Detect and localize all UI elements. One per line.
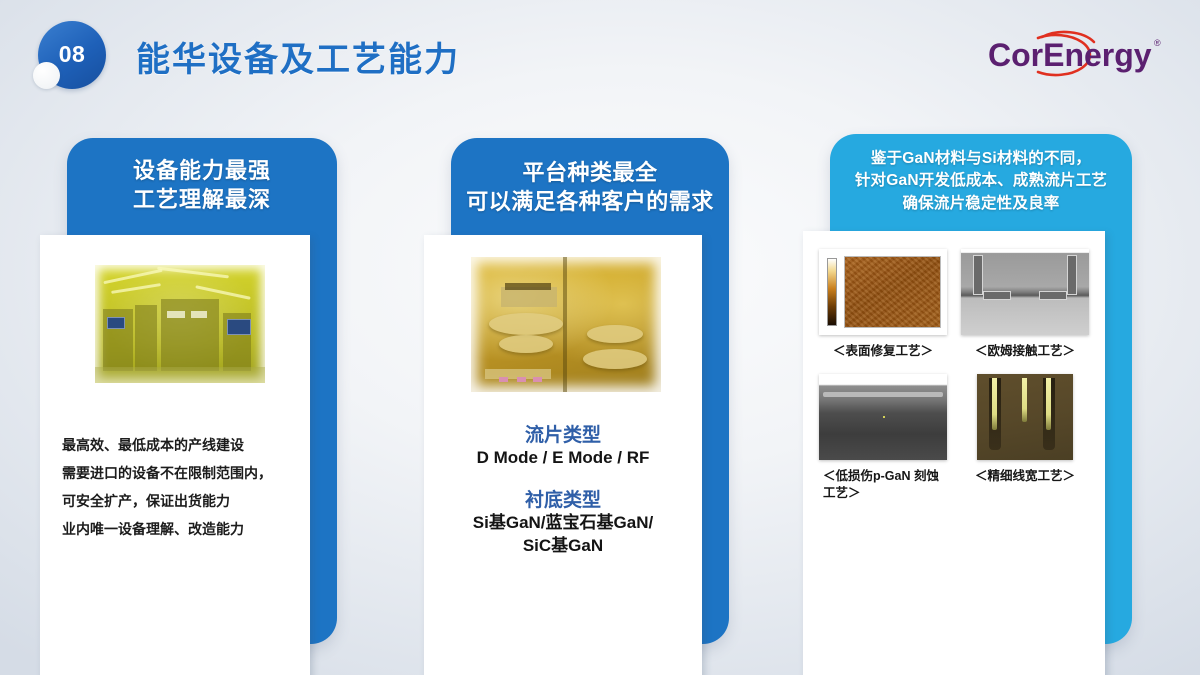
afm-surface-scan-image [819, 249, 947, 335]
card-equipment-body-line2: 需要进口的设备不在限制范围内， [62, 459, 294, 487]
card-equipment-body-line3: 可安全扩产，保证出货能力 [62, 487, 294, 515]
logo-wordmark: CorEnergy [988, 37, 1152, 73]
card-process-heading-line3: 确保流片稳定性及良率 [830, 193, 1132, 215]
wafer-handler-photo [471, 257, 661, 392]
card-platform-group1-subtitle: 流片类型 [430, 420, 696, 447]
process-tile-row-bottom: ＜低损伤p-GaN 刻蚀工艺＞ ＜精细线宽工艺＞ [811, 374, 1097, 502]
process-tile[interactable]: ＜表面修复工艺＞ [819, 249, 947, 360]
card-platform-heading-line1: 平台种类最全 [451, 158, 729, 187]
sem-fine-linewidth-image [977, 374, 1073, 460]
card-platform[interactable]: 平台种类最全 可以满足各种客户的需求 流片类型 D Mode / E Mode … [451, 138, 729, 644]
card-platform-group1-value: D Mode / E Mode / RF [430, 447, 696, 470]
card-equipment[interactable]: 设备能力最强 工艺理解最深 最高效、最低成本的产线建设 [67, 138, 337, 644]
card-process-heading: 鉴于GaN材料与Si材料的不同， 针对GaN开发低成本、成熟流片工艺 确保流片稳… [830, 148, 1132, 215]
pgan-layer [823, 392, 943, 397]
card-equipment-body-line4: 业内唯一设备理解、改造能力 [62, 515, 294, 543]
page-title: 能华设备及工艺能力 [136, 32, 460, 81]
card-process-panel: ＜表面修复工艺＞ ＜欧姆接触工艺＞ [803, 231, 1105, 675]
card-equipment-panel: 最高效、最低成本的产线建设 需要进口的设备不在限制范围内， 可安全扩产，保证出货… [40, 235, 310, 675]
card-platform-group2-subtitle: 衬底类型 [430, 485, 696, 512]
card-platform-group2-value-line2: SiC基GaN [430, 535, 696, 558]
slide: 08 能华设备及工艺能力 CorEnergy ® 设备能力最强 工艺理解最深 [0, 0, 1200, 675]
card-platform-group2-value-line1: Si基GaN/蓝宝石基GaN/ [430, 512, 696, 535]
card-platform-heading: 平台种类最全 可以满足各种客户的需求 [451, 158, 729, 216]
afm-color-scalebar [827, 258, 837, 326]
process-tile-caption: ＜欧姆接触工艺＞ [961, 343, 1089, 360]
logo-artwork: CorEnergy ® [976, 24, 1176, 86]
card-platform-panel: 流片类型 D Mode / E Mode / RF 衬底类型 Si基GaN/蓝宝… [424, 235, 702, 675]
process-tile-caption: ＜精细线宽工艺＞ [961, 468, 1089, 485]
process-tile[interactable]: ＜欧姆接触工艺＞ [961, 249, 1089, 360]
card-platform-body: 流片类型 D Mode / E Mode / RF 衬底类型 Si基GaN/蓝宝… [430, 420, 696, 558]
card-equipment-body: 最高效、最低成本的产线建设 需要进口的设备不在限制范围内， 可安全扩产，保证出货… [62, 431, 294, 543]
card-equipment-heading-line1: 设备能力最强 [67, 156, 337, 185]
card-process[interactable]: 鉴于GaN材料与Si材料的不同， 针对GaN开发低成本、成熟流片工艺 确保流片稳… [830, 134, 1132, 644]
process-tile-caption: ＜低损伤p-GaN 刻蚀工艺＞ [819, 468, 947, 502]
process-tile[interactable]: ＜精细线宽工艺＞ [961, 374, 1089, 502]
process-tile[interactable]: ＜低损伤p-GaN 刻蚀工艺＞ [819, 374, 947, 502]
corenergy-logo: CorEnergy ® [976, 24, 1176, 86]
process-tile-grid: ＜表面修复工艺＞ ＜欧姆接触工艺＞ [811, 249, 1097, 502]
sem-ohmic-contact-image [961, 249, 1089, 335]
card-platform-heading-line2: 可以满足各种客户的需求 [451, 187, 729, 216]
slide-header: 08 能华设备及工艺能力 CorEnergy ® [0, 0, 1200, 110]
badge-accent-dot [33, 62, 60, 89]
card-equipment-body-line1: 最高效、最低成本的产线建设 [62, 431, 294, 459]
registered-trademark-icon: ® [1154, 38, 1161, 48]
card-equipment-heading-line2: 工艺理解最深 [67, 185, 337, 214]
process-tile-caption: ＜表面修复工艺＞ [819, 343, 947, 360]
card-process-heading-line2: 针对GaN开发低成本、成熟流片工艺 [830, 170, 1132, 192]
pgan-marker [883, 416, 885, 418]
cleanroom-equipment-photo [95, 265, 265, 383]
sem-pgan-etch-image [819, 374, 947, 460]
card-equipment-heading: 设备能力最强 工艺理解最深 [67, 156, 337, 214]
process-tile-row-top: ＜表面修复工艺＞ ＜欧姆接触工艺＞ [811, 249, 1097, 360]
afm-surface-map [844, 256, 941, 328]
card-process-heading-line1: 鉴于GaN材料与Si材料的不同， [830, 148, 1132, 170]
